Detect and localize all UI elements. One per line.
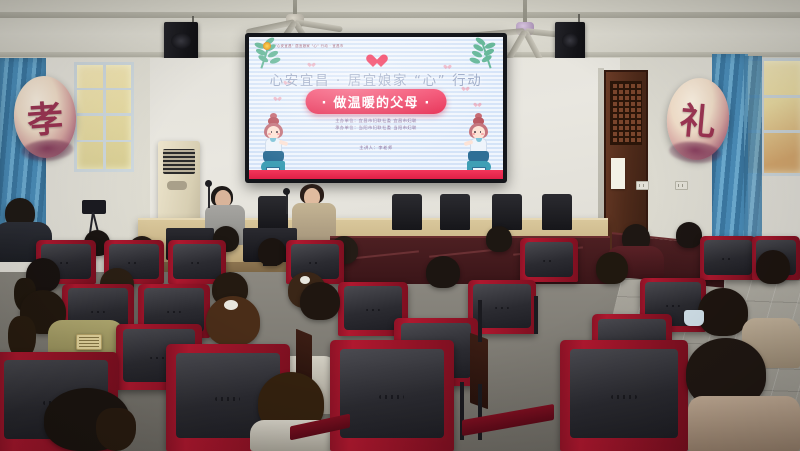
window-left [74, 62, 134, 172]
stage-chair[interactable] [258, 196, 288, 230]
audience-shoulders [688, 396, 800, 451]
audience-head [258, 238, 286, 266]
audience-head-with-mask [698, 288, 748, 336]
hair-tie [224, 300, 238, 310]
audience-head [300, 282, 340, 320]
stage-chair[interactable] [492, 194, 522, 230]
seat-cushion [340, 349, 444, 438]
slide-top-banner-text: "心安宜昌" 居宜娘家 "心" 行动 · 宜昌市 [275, 43, 344, 48]
audience-seat-front[interactable] [560, 340, 688, 451]
seat-cushion [704, 240, 751, 275]
emblem-icon [263, 42, 271, 50]
slide-top-banner: "心安宜昌" 居宜娘家 "心" 行动 · 宜昌市 [263, 41, 489, 50]
wall-plaque-right: 礼 [664, 75, 733, 162]
microphone-stand [208, 184, 210, 208]
wall-outlet[interactable] [675, 181, 688, 190]
audience-head [756, 250, 790, 284]
slide-content: "心安宜昌" 居宜娘家 "心" 行动 · 宜昌市 心安宜昌 · 居宜娘家 “心”… [249, 37, 503, 179]
seat-cushion [473, 284, 530, 327]
presenter-right [292, 184, 338, 244]
cartoon-girl-left [257, 117, 291, 175]
auditorium-scene: 孝 礼 [0, 0, 800, 451]
audience-head [426, 256, 460, 288]
seat-cushion [570, 349, 678, 438]
ponytail [96, 408, 136, 451]
audience-seat[interactable] [520, 238, 578, 282]
face-mask [684, 310, 704, 326]
stage-chair[interactable] [440, 194, 470, 230]
slide-bottom-bar [249, 170, 503, 179]
door-notice-paper [611, 158, 625, 190]
curtain-right-inner [744, 56, 762, 252]
stage-chair[interactable] [392, 194, 422, 230]
wall-outlet[interactable] [636, 181, 649, 190]
cheek [472, 133, 475, 135]
cartoon-girl-right [461, 117, 495, 175]
audience-head [486, 226, 512, 252]
slide-title: 心安宜昌 · 居宜娘家 “心” 行动 [249, 69, 503, 89]
seat-cushion [173, 244, 222, 279]
microphone-head [205, 180, 212, 187]
slide-subtitle-text: · 做温暖的父母 · [322, 96, 431, 111]
window-mullion [77, 140, 131, 142]
seat-leg [478, 300, 482, 342]
panel-chevron [349, 250, 421, 277]
cheek [481, 133, 484, 135]
window-mullion [77, 88, 131, 90]
audience-seat[interactable] [700, 236, 756, 280]
wall-plaque-left: 孝 [11, 74, 79, 160]
smartphone[interactable] [76, 334, 102, 350]
ac-control-panel[interactable] [167, 181, 186, 190]
ceiling-fan-left [240, 0, 350, 34]
cheek [268, 133, 271, 135]
mini-heart-icon [275, 97, 280, 102]
mini-heart-icon [475, 103, 480, 108]
projection-screen[interactable]: "心安宜昌" 居宜娘家 "心" 行动 · 宜昌市 心安宜昌 · 居宜娘家 “心”… [245, 33, 507, 183]
plaque-glyph: 孝 [11, 74, 79, 160]
microphone-stand [286, 192, 288, 214]
seat-cushion [525, 242, 574, 277]
hair-tie [300, 276, 310, 284]
stage-chair[interactable] [542, 194, 572, 230]
audience-head [676, 222, 702, 248]
door-lattice-panel [610, 81, 642, 144]
seat-leg [534, 296, 538, 334]
slide-subtitle-pill: · 做温暖的父母 · [306, 89, 447, 114]
leaf [269, 56, 281, 64]
audience-head [596, 252, 628, 284]
eye [271, 131, 273, 133]
plaque-glyph: 礼 [664, 75, 733, 162]
ceiling-beam-front [0, 12, 800, 18]
window-mullion [103, 65, 106, 169]
mini-heart-icon [309, 63, 314, 68]
heart-icon [369, 55, 383, 68]
microphone-head [283, 188, 290, 195]
cheek [277, 133, 280, 135]
audience-seat-front[interactable] [330, 340, 454, 451]
ac-vent [163, 149, 195, 174]
